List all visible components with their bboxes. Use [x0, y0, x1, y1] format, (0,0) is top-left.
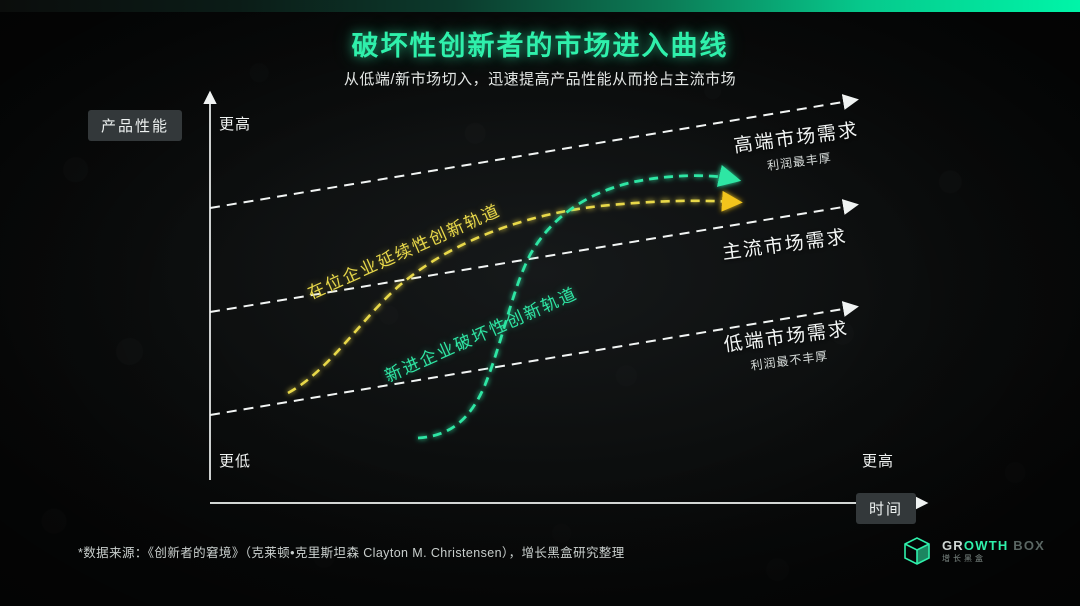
x-axis-high-label: 更高: [862, 450, 894, 471]
sustaining-innovation-curve: [288, 201, 735, 393]
brand-logo-word-1: GR: [942, 538, 964, 553]
y-axis-pill-label: 产品性能: [88, 110, 182, 141]
brand-logo-text: GROWTH BOX 增长黑盒: [942, 539, 1045, 563]
cube-logo-icon: [900, 534, 934, 568]
brand-logo-word-3: BOX: [1013, 538, 1045, 553]
brand-logo-word-2: OWTH: [964, 538, 1009, 553]
brand-logo: GROWTH BOX 增长黑盒: [900, 534, 1045, 568]
x-axis-pill-label: 时间: [856, 493, 916, 524]
source-footnote: *数据来源：《创新者的窘境》（克莱顿•克里斯坦森 Clayton M. Chri…: [78, 542, 625, 561]
y-axis-high-label: 更高: [219, 113, 251, 134]
brand-logo-chinese: 增长黑盒: [942, 555, 1045, 563]
brand-logo-wordmark: GROWTH BOX: [942, 539, 1045, 553]
slide-canvas: 破坏性创新者的市场进入曲线 从低端/新市场切入，迅速提高产品性能从而抢占主流市场: [0, 0, 1080, 606]
y-axis-low-label: 更低: [219, 450, 251, 471]
